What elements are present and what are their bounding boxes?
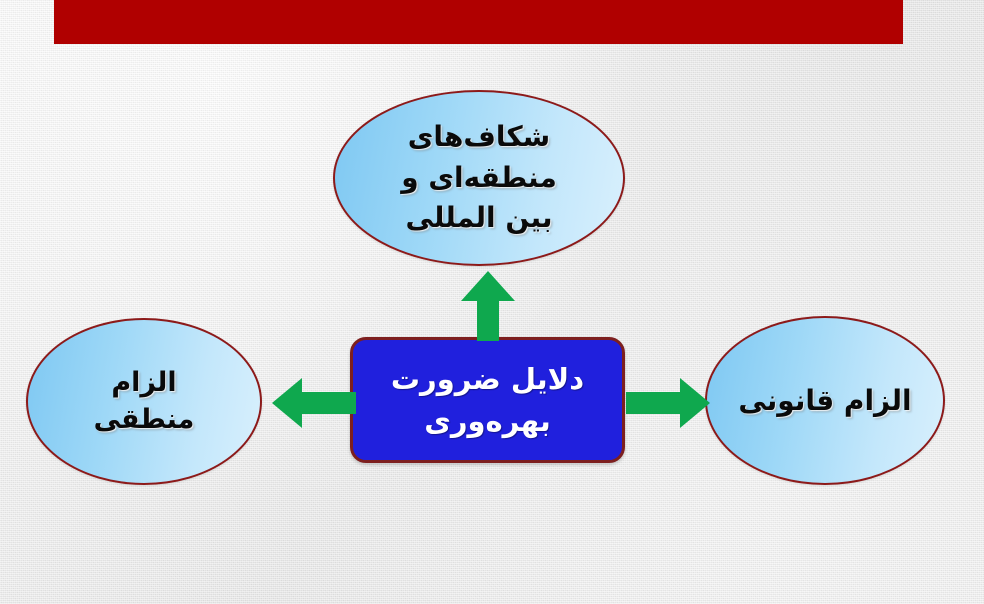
node-center-label: دلایل ضرورت بهره‌وری <box>391 358 584 442</box>
arrow-left-icon <box>272 378 356 428</box>
node-regional-international-gaps[interactable]: شکاف‌های منطقه‌ای و بین المللی <box>333 90 625 266</box>
node-right-label: الزام قانونی <box>738 382 911 420</box>
arrow-up-icon <box>461 271 515 341</box>
arrow-right-icon <box>626 378 710 428</box>
node-logical-requirement[interactable]: الزام منطقی <box>26 318 262 485</box>
slide-canvas: شکاف‌های منطقه‌ای و بین المللی الزام منط… <box>0 0 984 604</box>
node-top-label: شکاف‌های منطقه‌ای و بین المللی <box>372 117 587 239</box>
node-center-productivity-reasons[interactable]: دلایل ضرورت بهره‌وری <box>350 337 625 463</box>
title-bar <box>54 0 903 44</box>
node-legal-requirement[interactable]: الزام قانونی <box>705 316 945 485</box>
node-left-label: الزام منطقی <box>94 365 195 438</box>
